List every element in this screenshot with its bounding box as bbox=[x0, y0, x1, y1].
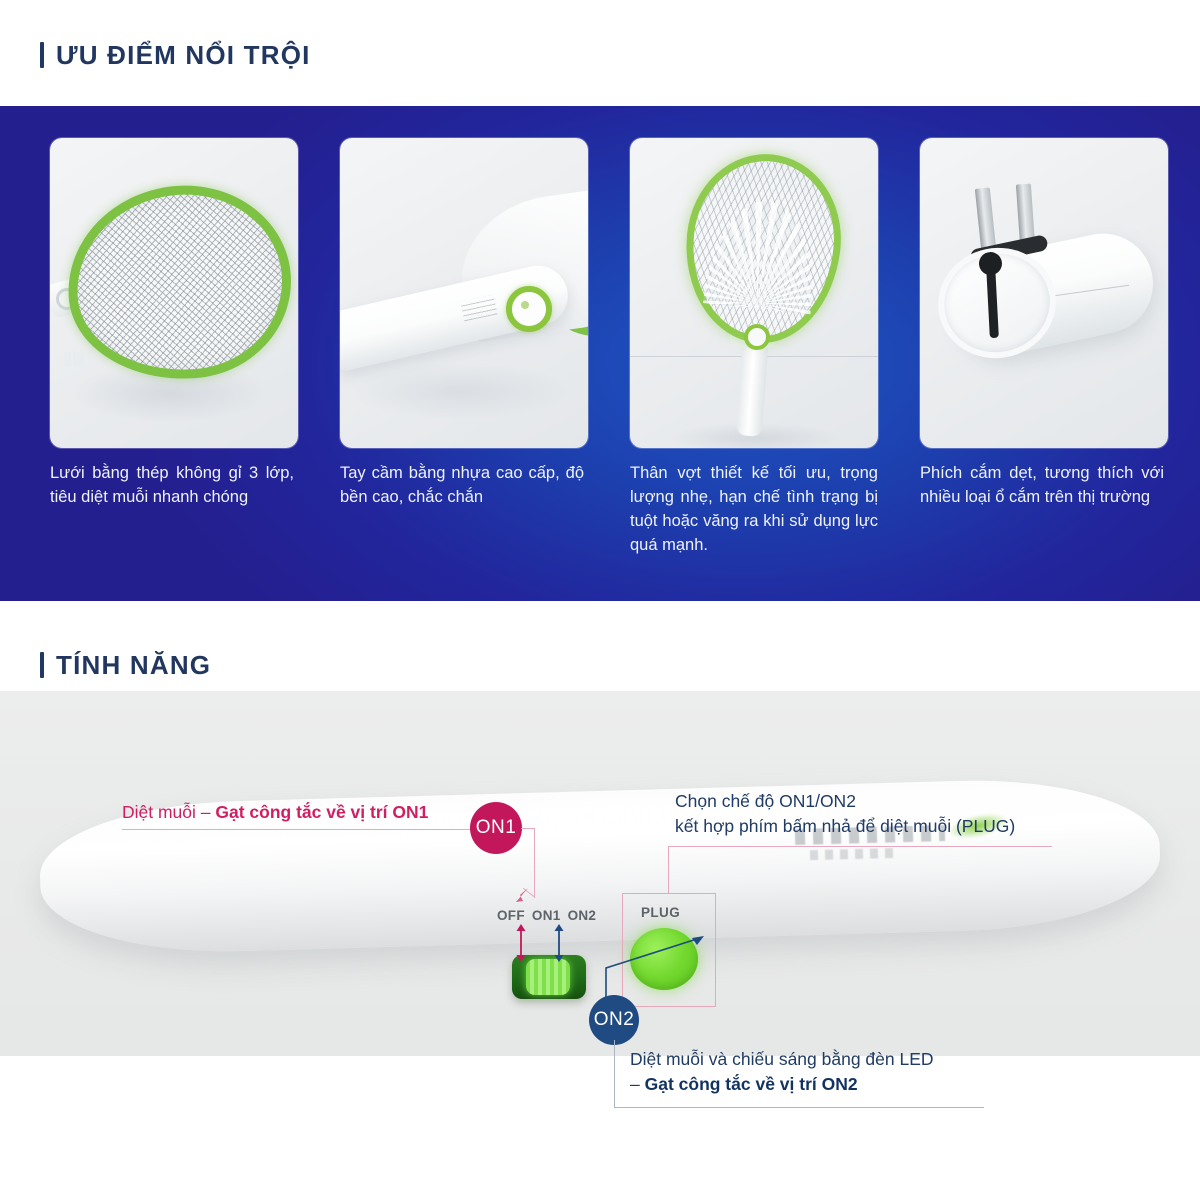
heading-accent-bar bbox=[40, 42, 44, 68]
on1-connector-v bbox=[534, 828, 535, 898]
page-title-advantages: ƯU ĐIỂM NỔI TRỘI bbox=[56, 40, 311, 71]
slider-switch-knob[interactable] bbox=[526, 959, 570, 995]
racket-stand-pegs bbox=[64, 352, 84, 366]
section-heading-advantages: ƯU ĐIỂM NỔI TRỘI bbox=[0, 0, 1200, 76]
annotation-plug-line2: kết hợp phím bấm nhả để diệt muỗi (PLUG) bbox=[675, 814, 1015, 839]
racket-mesh-head bbox=[677, 146, 850, 350]
annotation-on2-dash: – bbox=[630, 1074, 645, 1094]
on2-double-arrow-icon bbox=[552, 924, 566, 962]
photo-shadow bbox=[350, 363, 570, 419]
flat-plug-image bbox=[920, 138, 1168, 448]
racket-power-button bbox=[744, 324, 770, 350]
heading-accent-bar bbox=[40, 652, 44, 678]
racket-power-button bbox=[506, 286, 552, 332]
racket-mesh-closeup-image bbox=[50, 138, 298, 448]
annotation-on2-line1: Diệt muỗi và chiếu sáng bằng đèn LED bbox=[630, 1047, 934, 1072]
racket-mesh-head bbox=[62, 178, 298, 386]
annotation-plug-line1: Chọn chế độ ON1/ON2 bbox=[675, 789, 856, 814]
racket-full-body-image bbox=[630, 138, 878, 448]
on1-double-arrow-icon bbox=[514, 924, 528, 962]
advantage-caption-3: Thân vợt thiết kế tối ưu, trọng lượng nh… bbox=[630, 462, 878, 558]
switch-label-off: OFF bbox=[497, 908, 525, 923]
badge-on2: ON2 bbox=[589, 995, 639, 1045]
advantage-caption-1: Lưới bằng thép không gỉ 3 lớp, tiêu diệt… bbox=[50, 462, 294, 510]
annotation-on2-bold: Gạt công tắc về vị trí ON2 bbox=[645, 1074, 858, 1094]
annotation-plug-underline bbox=[668, 846, 1052, 847]
advantage-card-3: Thân vợt thiết kế tối ưu, trọng lượng nh… bbox=[630, 106, 880, 601]
annotation-plug-connector-v bbox=[668, 846, 669, 894]
on1-arrowhead-icon bbox=[508, 886, 530, 906]
advantage-caption-4: Phích cắm dẹt, tương thích với nhiều loạ… bbox=[920, 462, 1164, 510]
on1-connector-h bbox=[521, 828, 535, 829]
advantage-caption-2: Tay cầm bằng nhựa cao cấp, độ bền cao, c… bbox=[340, 462, 584, 510]
annotation-on2-underline bbox=[614, 1107, 984, 1108]
advantages-panel: Lưới bằng thép không gỉ 3 lớp, tiêu diệt… bbox=[0, 106, 1200, 601]
switch-label-on2: ON2 bbox=[568, 908, 597, 923]
advantage-card-2: Tay cầm bằng nhựa cao cấp, độ bền cao, c… bbox=[340, 106, 590, 601]
product-infographic-page: ƯU ĐIỂM NỔI TRỘI Lưới bằng thép không gỉ… bbox=[0, 0, 1200, 1200]
annotation-on2-line2: – Gạt công tắc về vị trí ON2 bbox=[630, 1072, 858, 1097]
advantage-card-list: Lưới bằng thép không gỉ 3 lớp, tiêu diệt… bbox=[0, 106, 1200, 601]
advantage-card-4: Phích cắm dẹt, tương thích với nhiều loạ… bbox=[920, 106, 1170, 601]
annotation-on1-underline bbox=[122, 829, 482, 830]
page-title-features: TÍNH NĂNG bbox=[56, 650, 211, 681]
annotation-on2-connector-v bbox=[614, 1040, 615, 1108]
plug-prong-left bbox=[975, 187, 996, 250]
racket-fan-pattern bbox=[703, 196, 822, 315]
badge-on1: ON1 bbox=[470, 802, 522, 854]
annotation-on1-text: Diệt muỗi – Gạt công tắc về vị trí ON1 bbox=[122, 800, 428, 825]
advantage-card-1: Lưới bằng thép không gỉ 3 lớp, tiêu diệt… bbox=[50, 106, 300, 601]
racket-handle-closeup-image bbox=[340, 138, 588, 448]
spacer-top bbox=[0, 76, 1200, 106]
switch-position-labels: OFFON1ON2 bbox=[497, 908, 596, 923]
bottom-white-margin bbox=[0, 1165, 1200, 1200]
on2-connector-arrow-icon bbox=[596, 930, 712, 1002]
switch-label-on1: ON1 bbox=[532, 908, 561, 923]
annotation-on1-bold: Gạt công tắc về vị trí ON1 bbox=[215, 802, 428, 822]
plug-button-label: PLUG bbox=[641, 905, 680, 920]
section-heading-features: TÍNH NĂNG bbox=[0, 601, 1200, 691]
annotation-on1-plain: Diệt muỗi – bbox=[122, 802, 215, 822]
